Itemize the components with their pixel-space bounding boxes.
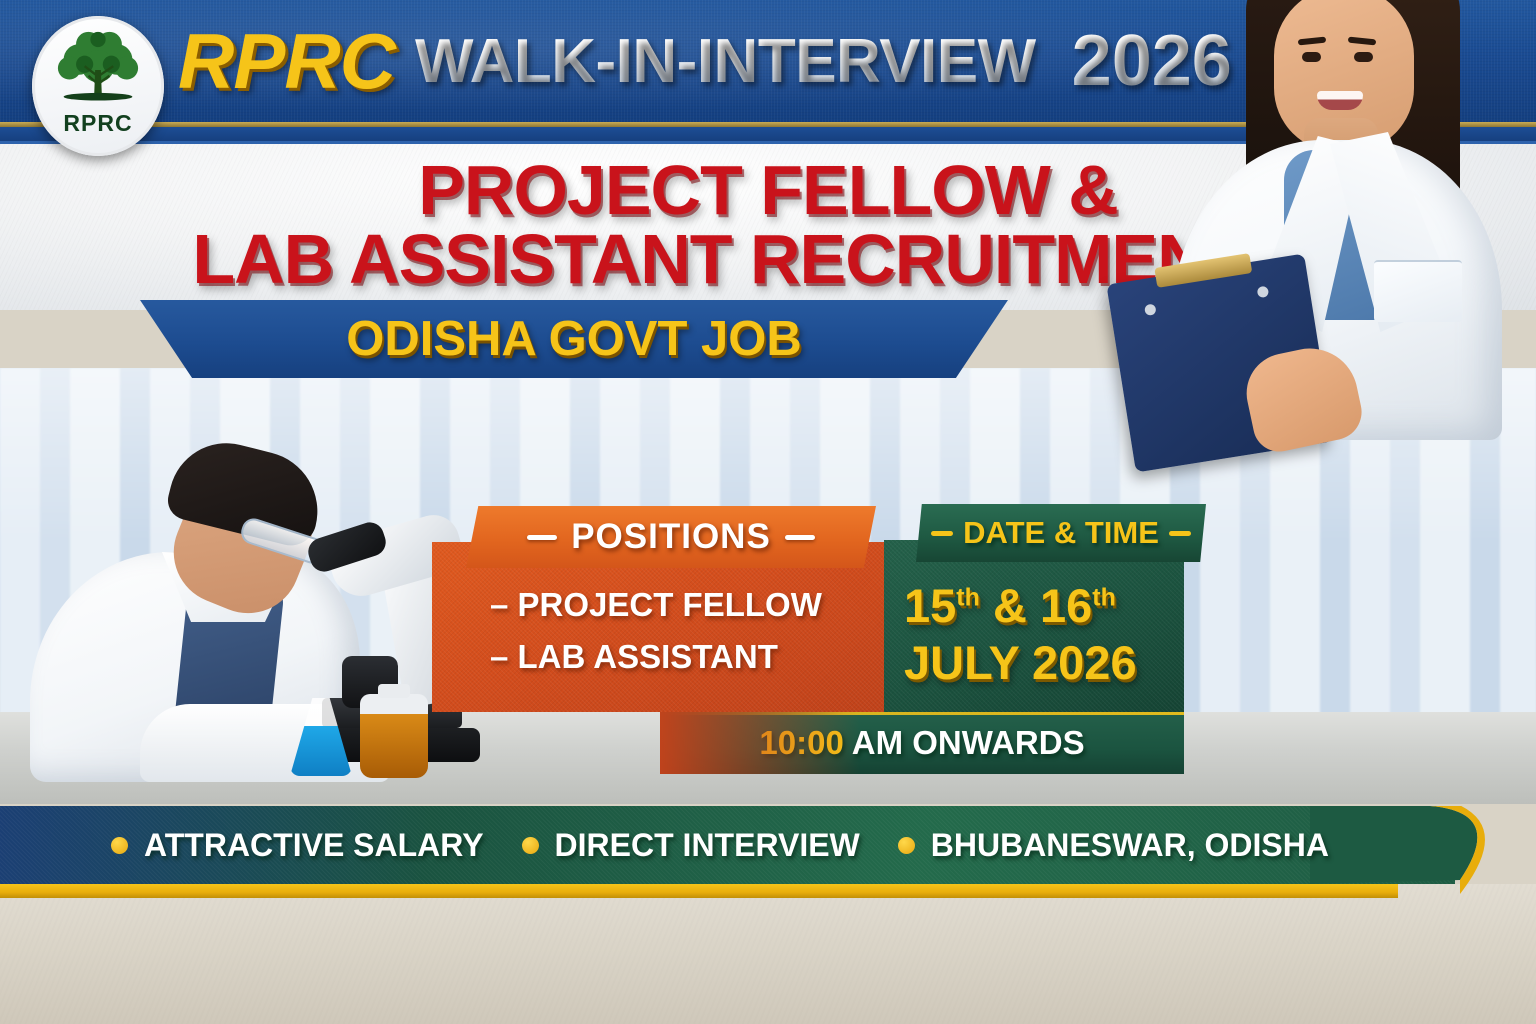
female-scientist-image xyxy=(1162,0,1512,440)
rprc-logo: RPRC xyxy=(32,16,164,156)
feature-label: BHUBANESWAR, ODISHA xyxy=(931,827,1329,864)
feature-item: BHUBANESWAR, ODISHA xyxy=(898,827,1329,864)
dash-left-icon xyxy=(527,535,557,540)
headline-line-1: PROJECT FELLOW & xyxy=(418,150,1118,230)
features-list: ATTRACTIVE SALARY DIRECT INTERVIEW BHUBA… xyxy=(0,806,1440,884)
date-month-year: JULY 2026 xyxy=(904,635,1137,690)
odisha-govt-job-ribbon: ODISHA GOVT JOB xyxy=(140,300,1008,378)
org-name: RPRC xyxy=(178,16,395,107)
date-conjunction: & xyxy=(993,579,1027,632)
position-item: – PROJECT FELLOW xyxy=(490,586,822,624)
logo-label: RPRC xyxy=(63,110,132,137)
date-value: 15th & 16th JULY 2026 xyxy=(904,578,1137,690)
header-title: RPRC WALK-IN-INTERVIEW 2026 xyxy=(178,12,1232,110)
recruitment-poster: RPRC WALK-IN-INTERVIEW 2026 RPRC PROJECT… xyxy=(0,0,1536,1024)
event-name: WALK-IN-INTERVIEW xyxy=(415,26,1036,97)
date-day-2: 16 xyxy=(1040,579,1092,632)
clipboard-rivet-right xyxy=(1257,286,1270,299)
woman-smile xyxy=(1317,91,1363,110)
feature-label: DIRECT INTERVIEW xyxy=(555,827,860,864)
time-suffix: AM ONWARDS xyxy=(852,724,1085,761)
date-time-heading: DATE & TIME xyxy=(963,515,1159,551)
woman-coat-pocket xyxy=(1374,260,1462,322)
positions-header-ribbon: POSITIONS xyxy=(466,506,876,568)
dash-right-gold-icon xyxy=(1169,531,1191,536)
woman-eye-right xyxy=(1354,52,1373,62)
feature-label: ATTRACTIVE SALARY xyxy=(144,827,484,864)
male-scientist-image xyxy=(30,382,460,782)
dash-right-icon xyxy=(785,535,815,540)
position-item: – LAB ASSISTANT xyxy=(490,638,822,676)
dash-left-gold-icon xyxy=(931,531,953,536)
ribbon-label: ODISHA GOVT JOB xyxy=(346,311,802,367)
woman-eye-left xyxy=(1302,52,1321,62)
date-day-1: 15 xyxy=(904,579,956,632)
bullet-icon xyxy=(898,837,915,854)
gold-divider xyxy=(0,884,1398,898)
time-bar: 10:00 AM ONWARDS xyxy=(660,712,1184,774)
positions-list: – PROJECT FELLOW – LAB ASSISTANT xyxy=(490,586,822,690)
amber-bottle-image xyxy=(360,694,428,778)
time-value: 10:00 xyxy=(759,724,843,761)
date-day-1-suffix: th xyxy=(956,583,980,611)
date-days-line: 15th & 16th xyxy=(904,578,1137,633)
date-day-2-suffix: th xyxy=(1092,583,1116,611)
date-time-header-ribbon: DATE & TIME xyxy=(916,504,1206,562)
clipboard-rivet-left xyxy=(1144,303,1157,316)
feature-item: ATTRACTIVE SALARY xyxy=(111,827,484,864)
positions-heading: POSITIONS xyxy=(571,517,771,557)
bullet-icon xyxy=(111,837,128,854)
feature-item: DIRECT INTERVIEW xyxy=(522,827,860,864)
poster-footer xyxy=(0,884,1536,1024)
time-text: 10:00 AM ONWARDS xyxy=(759,724,1084,762)
bullet-icon xyxy=(522,837,539,854)
tree-icon xyxy=(50,28,146,112)
